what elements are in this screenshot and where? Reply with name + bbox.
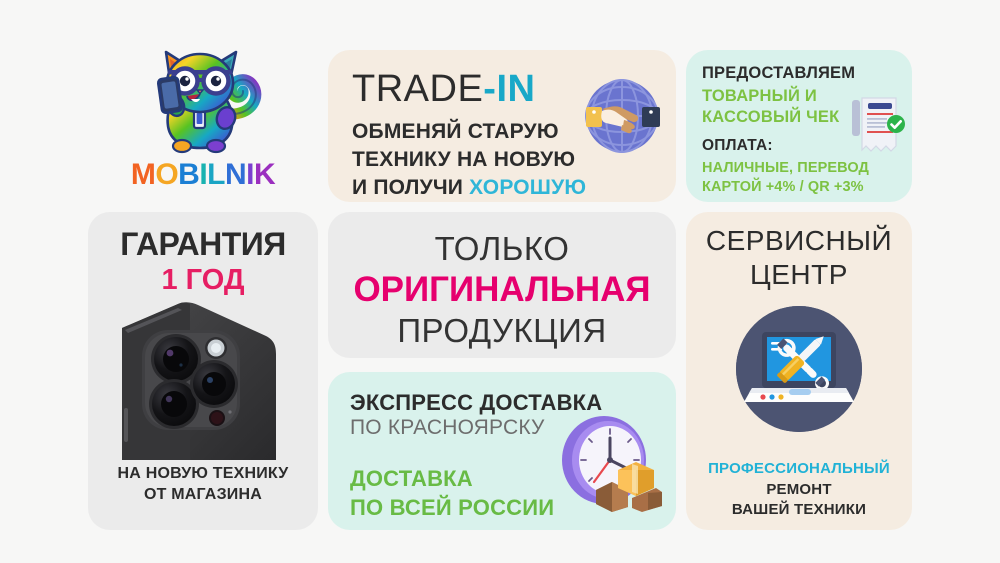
handshake-globe-icon (582, 76, 662, 156)
brand-logo-block: MOBILNIK (88, 34, 318, 202)
service-center-card[interactable]: СЕРВИСНЫЙ ЦЕНТР (686, 212, 912, 530)
cat-mascot-icon (140, 36, 266, 156)
clock-parcels-icon (556, 412, 666, 512)
warranty-footer: НА НОВУЮ ТЕХНИКУ ОТ МАГАЗИНА (88, 463, 318, 506)
check-line-1: ПРЕДОСТАВЛЯЕМ (702, 64, 855, 83)
iphone-camera-photo (116, 300, 291, 460)
service-footer-accent: ПРОФЕССИОНАЛЬНЫЙ (686, 460, 912, 477)
service-title: СЕРВИСНЫЙ ЦЕНТР (686, 224, 912, 291)
payment-label: ОПЛАТА: (702, 137, 773, 155)
original-line-3: ПРОДУКЦИЯ (328, 312, 676, 350)
brand-letter: K (254, 160, 275, 190)
receipt-check-icon (850, 94, 906, 156)
trade-in-title: TRADE-IN (352, 68, 535, 111)
brand-letter: M (131, 160, 156, 190)
warranty-title: ГАРАНТИЯ (88, 226, 318, 263)
promo-banner: MOBILNIK TRADE-IN ОБМЕНЯЙ СТАРУЮ ТЕХНИКУ… (0, 0, 1000, 563)
trade-in-line-3: И ПОЛУЧИ ХОРОШУЮ СКИДКУ (352, 174, 676, 202)
delivery-card[interactable]: ЭКСПРЕСС ДОСТАВКА ПО КРАСНОЯРСКУ ДОСТАВК… (328, 372, 676, 530)
payment-methods: НАЛИЧНЫЕ, ПЕРЕВОД КАРТОЙ +4% / QR +3% (702, 159, 869, 197)
brand-wordmark: MOBILNIK (131, 160, 275, 190)
service-footer-plain: РЕМОНТ ВАШЕЙ ТЕХНИКИ (686, 480, 912, 520)
delivery-line-3: ДОСТАВКА ПО ВСЕЙ РОССИИ (350, 464, 554, 522)
brand-letter: I (199, 160, 207, 190)
original-line-2: ОРИГИНАЛЬНАЯ (328, 270, 676, 310)
laptop-repair-tools-icon (734, 304, 864, 434)
delivery-line-2: ПО КРАСНОЯРСКУ (350, 416, 545, 440)
brand-letter: L (207, 160, 225, 190)
original-product-card[interactable]: ТОЛЬКО ОРИГИНАЛЬНАЯ ПРОДУКЦИЯ (328, 212, 676, 358)
warranty-period: 1 ГОД (88, 264, 318, 297)
warranty-card[interactable]: ГАРАНТИЯ 1 ГОД (88, 212, 318, 530)
trade-in-card[interactable]: TRADE-IN ОБМЕНЯЙ СТАРУЮ ТЕХНИКУ НА НОВУЮ… (328, 50, 676, 202)
brand-letter: O (155, 160, 178, 190)
brand-letter: N (225, 160, 246, 190)
check-line-2: ТОВАРНЫЙ И КАССОВЫЙ ЧЕК (702, 86, 839, 128)
brand-letter: I (246, 160, 254, 190)
original-line-1: ТОЛЬКО (328, 230, 676, 268)
brand-letter: B (178, 160, 199, 190)
receipt-payment-card[interactable]: ПРЕДОСТАВЛЯЕМ ТОВАРНЫЙ И КАССОВЫЙ ЧЕК ОП… (686, 50, 912, 202)
